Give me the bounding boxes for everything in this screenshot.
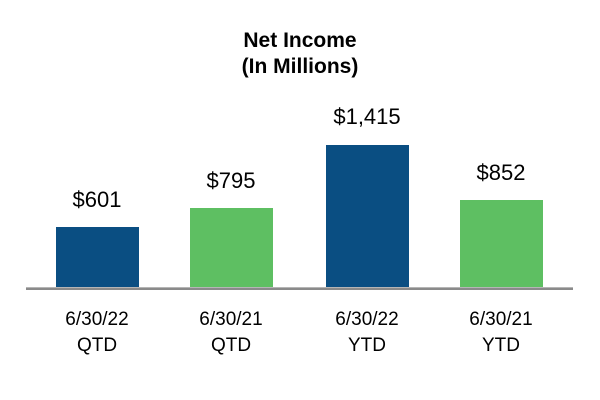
bar-group-0: $601 6/30/22 QTD [30,0,164,400]
bar-group-1: $795 6/30/21 QTD [164,0,298,400]
bar-group-3: $852 6/30/21 YTD [434,0,568,400]
bar-rect[interactable] [190,208,273,288]
bar-rect[interactable] [460,200,543,288]
net-income-bar-chart: Net Income (In Millions) $601 6/30/22 QT… [0,0,600,400]
bar-category-label: 6/30/21 YTD [434,307,568,359]
bar-rect[interactable] [56,227,139,288]
bar-category-line-1: 6/30/22 [30,307,164,333]
category-axis-line [26,287,573,290]
bar-category-label: 6/30/22 QTD [30,307,164,359]
bar-group-2: $1,415 6/30/22 YTD [300,0,434,400]
bar-category-line-2: YTD [434,333,568,359]
bar-category-line-2: QTD [164,333,298,359]
bar-value-label: $852 [434,161,568,185]
bar-category-line-1: 6/30/21 [164,307,298,333]
bar-category-line-1: 6/30/21 [434,307,568,333]
bar-category-label: 6/30/21 QTD [164,307,298,359]
plot-area: $601 6/30/22 QTD $795 6/30/21 QTD $1,415… [0,0,600,400]
bar-category-line-2: YTD [300,333,434,359]
bar-value-label: $795 [164,169,298,193]
bar-category-line-1: 6/30/22 [300,307,434,333]
bar-value-label: $1,415 [300,105,434,129]
bar-category-label: 6/30/22 YTD [300,307,434,359]
bar-value-label: $601 [30,188,164,212]
bar-category-line-2: QTD [30,333,164,359]
bar-rect[interactable] [326,145,409,288]
